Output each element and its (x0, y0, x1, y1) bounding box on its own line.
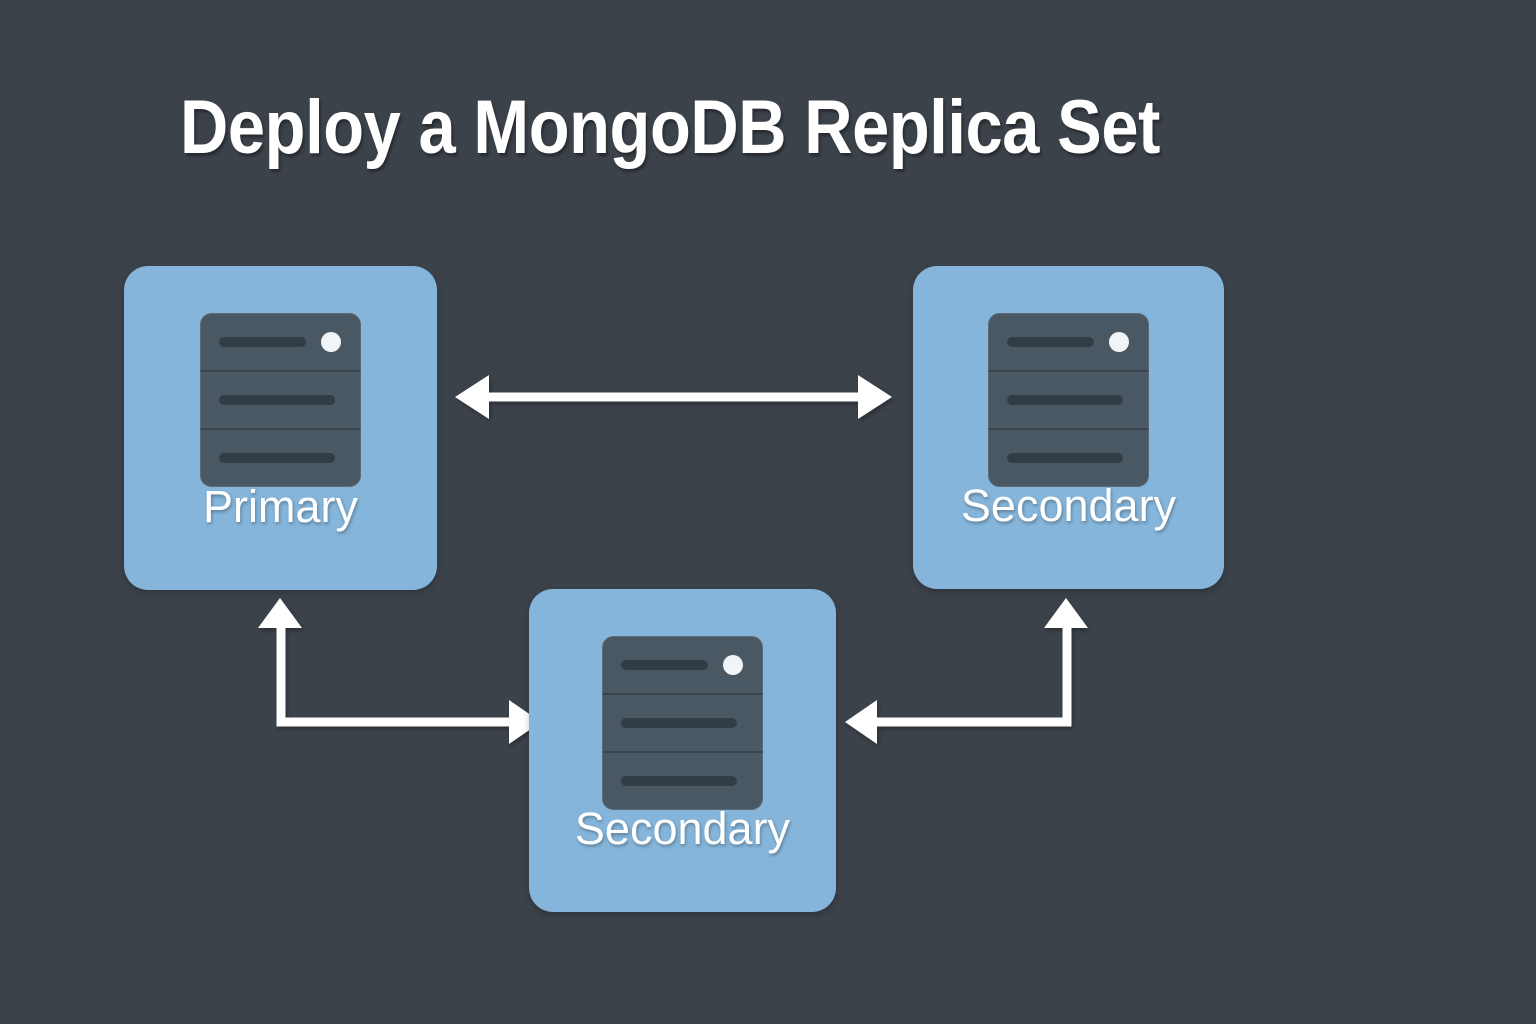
node-secondary-bottom[interactable]: Secondary (529, 589, 836, 912)
server-icon (200, 313, 361, 487)
connector-primary-secondary-right (455, 375, 892, 419)
connector-primary-secondary-bottom (258, 598, 541, 744)
server-icon (988, 313, 1149, 487)
node-label: Secondary (961, 483, 1176, 528)
connector-secondary-right-secondary-bottom (845, 598, 1088, 744)
node-secondary-right[interactable]: Secondary (913, 266, 1224, 589)
node-primary[interactable]: Primary (124, 266, 437, 590)
node-label: Secondary (575, 806, 790, 851)
diagram-canvas: Deploy a MongoDB Replica Set (0, 0, 1536, 1024)
node-label: Primary (203, 484, 358, 529)
server-icon (602, 636, 763, 810)
page-title: Deploy a MongoDB Replica Set (80, 84, 1259, 171)
